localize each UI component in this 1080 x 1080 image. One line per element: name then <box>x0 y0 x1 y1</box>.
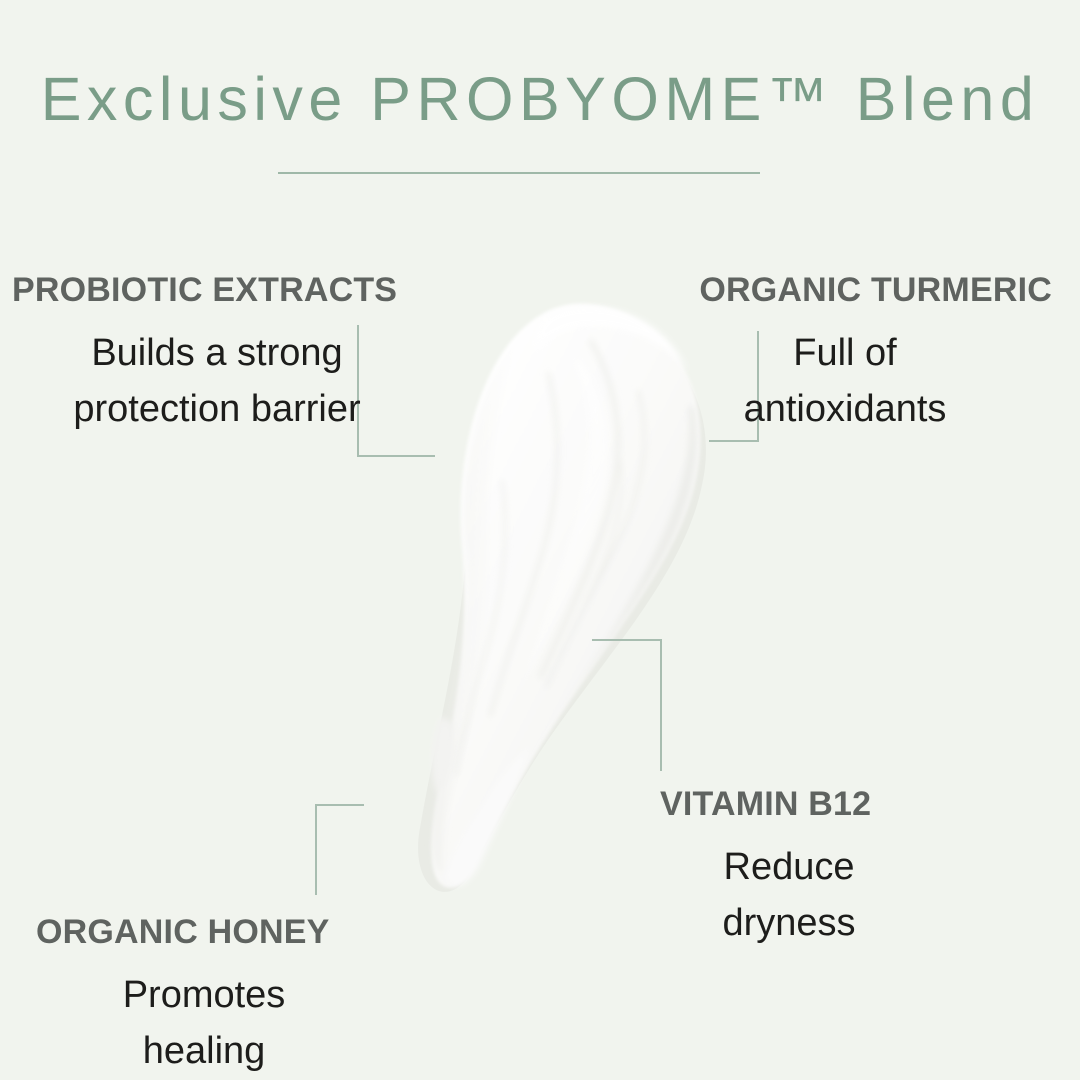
leader-line-vitamin-b12-horizontal <box>592 639 661 641</box>
ingredient-description: Reduce dryness <box>660 839 960 951</box>
title-divider <box>278 172 760 174</box>
leader-line-honey-horizontal <box>315 804 364 806</box>
leader-line-probiotic-horizontal <box>357 455 435 457</box>
ingredient-callout-probiotic-extracts: PROBIOTIC EXTRACTS Builds a strong prote… <box>12 270 412 437</box>
ingredient-description-line: Reduce <box>660 839 918 895</box>
ingredient-heading: PROBIOTIC EXTRACTS <box>12 270 412 311</box>
ingredient-heading: ORGANIC TURMERIC <box>660 270 1052 311</box>
leader-line-vitamin-b12-vertical <box>660 639 662 771</box>
ingredient-infographic: Exclusive PROBYOME™ Blend <box>0 0 1080 1080</box>
ingredient-description-line: dryness <box>660 895 918 951</box>
ingredient-description-line: Full of <box>660 325 1030 381</box>
leader-line-turmeric-horizontal <box>709 440 759 442</box>
ingredient-callout-vitamin-b12: VITAMIN B12 Reduce dryness <box>660 784 960 951</box>
ingredient-heading: ORGANIC HONEY <box>36 912 366 953</box>
ingredient-description: Full of antioxidants <box>660 325 1052 437</box>
ingredient-description-line: protection barrier <box>22 381 412 437</box>
page-title: Exclusive PROBYOME™ Blend <box>0 64 1080 134</box>
ingredient-callout-organic-turmeric: ORGANIC TURMERIC Full of antioxidants <box>660 270 1052 437</box>
ingredient-description-line: healing <box>42 1023 366 1079</box>
ingredient-description-line: antioxidants <box>660 381 1030 437</box>
ingredient-description-line: Builds a strong <box>22 325 412 381</box>
ingredient-callout-organic-honey: ORGANIC HONEY Promotes healing <box>36 912 366 1079</box>
ingredient-heading: VITAMIN B12 <box>660 784 960 825</box>
ingredient-description: Builds a strong protection barrier <box>12 325 412 437</box>
ingredient-description: Promotes healing <box>36 967 366 1079</box>
ingredient-description-line: Promotes <box>42 967 366 1023</box>
leader-line-honey-vertical <box>315 804 317 895</box>
